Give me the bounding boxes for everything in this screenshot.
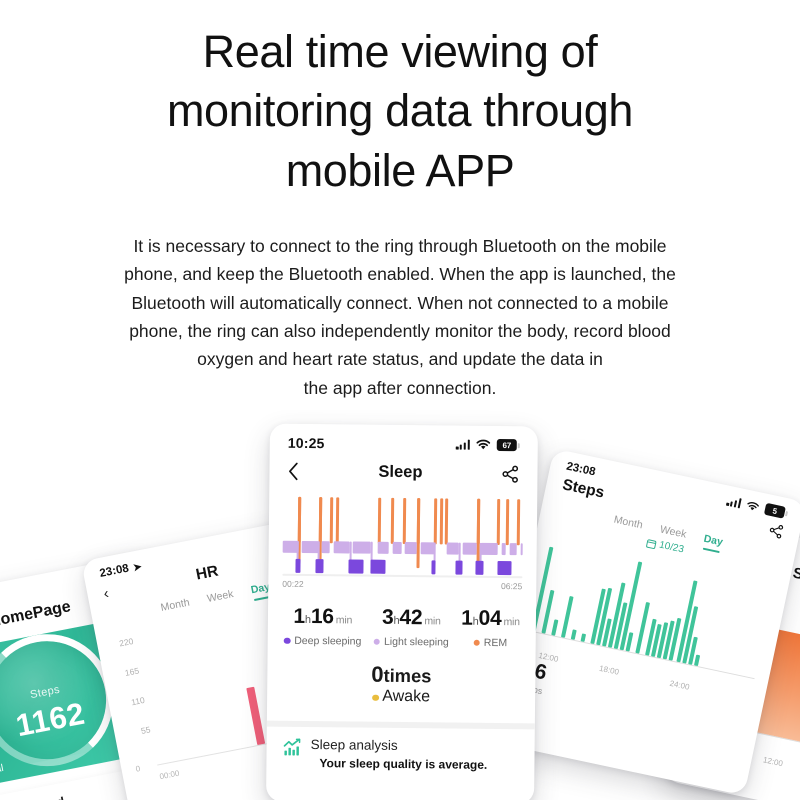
sleep-stat-awake: 0times Awake: [267, 647, 536, 708]
sleep-rem-tick: [445, 498, 448, 544]
calories-chip: 🔥 47 kcal: [0, 763, 5, 783]
steps-tab-day[interactable]: Day: [703, 533, 724, 549]
rem-minutes-unit: min: [503, 616, 519, 628]
phone-screen-sleep: 10:25 67 Sleep: [266, 424, 538, 800]
description-line-6: the app after connection.: [50, 374, 750, 402]
phone-screen-steps: 23:08 5 Steps: [492, 448, 800, 795]
sleep-deep-seg: [431, 560, 435, 574]
page-headline: Real time viewing of monitoring data thr…: [0, 22, 800, 200]
sleep-status-bar: 10:25 67: [270, 424, 538, 457]
leaderboard-label: Leaderboard: [0, 794, 66, 800]
light-color-dot: [373, 638, 380, 645]
light-minutes: 42: [399, 606, 422, 629]
light-hours: 3: [382, 606, 394, 629]
sleep-stat-light: 3h42min Light sleeping: [373, 606, 449, 649]
sleep-analysis-text: Your sleep quality is average.: [319, 756, 487, 772]
sleep-light-seg: [502, 543, 506, 555]
headline-line-1: Real time viewing of: [0, 22, 800, 81]
sleep-light-seg: [393, 542, 402, 554]
sleep-start-time: 00:22: [282, 579, 303, 589]
awake-color-dot: [372, 694, 379, 701]
deep-label: Deep sleeping: [294, 635, 361, 648]
hr-bar: [246, 687, 265, 745]
sleep-light-value: 3h42min: [374, 606, 450, 631]
steps-battery-level: 5: [764, 503, 786, 518]
hr-title: HR: [194, 563, 219, 585]
description-line-4: phone, the ring can also independently m…: [50, 317, 750, 345]
sleep-stat-deep: 1h16min Deep sleeping: [284, 605, 362, 648]
awake-count: 0: [371, 662, 384, 687]
headline-line-3: mobile APP: [0, 141, 800, 200]
chart-up-icon: [282, 738, 301, 757]
calendar-icon: [645, 537, 657, 549]
hr-y-tick-110: 110: [130, 695, 145, 707]
sleep-rem-tick: [517, 499, 520, 545]
hr-y-tick-55: 55: [140, 724, 151, 736]
rem-color-dot: [473, 639, 480, 646]
sleep-deep-seg: [455, 561, 462, 575]
sleep-deep-seg: [315, 559, 323, 573]
hr-tab-month[interactable]: Month: [160, 597, 191, 614]
sleep-light-seg: [463, 543, 477, 555]
hr-y-tick-220: 220: [118, 636, 134, 649]
light-minutes-unit: min: [424, 615, 440, 627]
steps-bar: [581, 633, 587, 642]
sleep-stat-rem: 1h04min REM: [461, 607, 520, 650]
sleep-deep-seg: [370, 560, 385, 574]
sleep-rem-tick: [403, 498, 406, 544]
sleep-light-seg: [322, 541, 330, 553]
sleep-analysis-section[interactable]: Sleep analysis Your sleep quality is ave…: [266, 727, 534, 773]
sleep-rem-connector: [416, 498, 420, 568]
sleep-rem-legend: REM: [461, 637, 520, 650]
sleep-hypnogram-chart: 00:22 06:25: [282, 497, 523, 592]
sleep-rem-tick: [336, 497, 339, 543]
phone-screenshot-collage: 10:25 ➤ HomePage Steps 1162 ⚑ 10000 🔥 47…: [0, 410, 800, 800]
signal-bars-icon: [726, 496, 742, 509]
sleep-axis-line: [282, 574, 522, 578]
deep-hours: 1: [293, 605, 305, 628]
sleep-rem-tick: [378, 498, 381, 544]
sleep-rem-tick: [497, 499, 500, 545]
sleep-rem-tick: [440, 498, 443, 544]
sleep-light-seg: [334, 541, 350, 553]
sleep-light-seg: [353, 541, 371, 553]
sleep-awake-value: 0times: [267, 661, 535, 690]
sleep-rem-value: 1h04min: [461, 607, 520, 632]
hr-x-tick-0: 00:00: [159, 769, 180, 782]
signal-bars-icon: [456, 440, 470, 450]
sleep-light-seg: [421, 542, 435, 554]
sleep-rem-tick: [434, 498, 437, 544]
steps-bar: [551, 619, 558, 635]
description-line-5: oxygen and heart rate status, and update…: [50, 345, 750, 373]
sleep-back-icon[interactable]: [287, 462, 299, 481]
sleep-rem-tick: [506, 499, 509, 545]
sleep-deep-seg: [475, 561, 483, 575]
awake-label: Awake: [382, 688, 430, 705]
location-arrow-icon: ➤: [131, 559, 143, 575]
wifi-icon: [745, 499, 760, 512]
calories-value: 47 kcal: [0, 763, 5, 780]
light-label: Light sleeping: [384, 636, 449, 649]
description-line-1: It is necessary to connect to the ring t…: [50, 232, 750, 260]
sleep-light-seg: [521, 543, 523, 555]
sleep-rem-tick: [330, 497, 333, 543]
wifi-icon: [476, 439, 491, 451]
sleep-end-time: 06:25: [501, 581, 522, 591]
sleep-analysis-title: Sleep analysis: [311, 737, 488, 754]
rem-hours: 1: [461, 607, 473, 630]
sleep-light-seg: [405, 542, 417, 554]
steps-bar: [694, 655, 700, 667]
rem-minutes: 04: [478, 607, 501, 630]
sleep-light-seg: [481, 543, 498, 555]
deep-minutes-unit: min: [336, 614, 352, 626]
sleep-status-time: 10:25: [288, 435, 325, 451]
sleep-deep-value: 1h16min: [284, 605, 362, 630]
share-icon[interactable]: [767, 522, 785, 540]
battery-icon: 67: [497, 439, 520, 451]
rem-label: REM: [484, 637, 507, 649]
steps-bar: [571, 629, 577, 640]
sleep-light-legend: Light sleeping: [373, 636, 448, 649]
sleep-stats-row: 1h16min Deep sleeping 3h42min Light slee…: [268, 589, 537, 650]
headline-line-2: monitoring data through: [0, 81, 800, 140]
sleep-battery-level: 67: [497, 439, 517, 451]
sleep-awake-legend: Awake: [267, 687, 535, 708]
sleep-light-seg: [378, 542, 389, 554]
deep-color-dot: [284, 638, 291, 645]
sleep-deep-legend: Deep sleeping: [284, 635, 362, 648]
sleep-title: Sleep: [378, 463, 422, 482]
sleep-light-seg: [302, 541, 319, 553]
sleep-status-icons: 67: [456, 439, 520, 452]
description-line-3: Bluetooth will automatically connect. Wh…: [50, 289, 750, 317]
hr-tab-week[interactable]: Week: [206, 588, 234, 605]
page-description: It is necessary to connect to the ring t…: [50, 232, 750, 402]
sleep-light-seg: [510, 543, 517, 555]
sleep-light-seg: [447, 542, 459, 554]
sleep-deep-seg: [295, 559, 300, 573]
share-icon[interactable]: [501, 465, 519, 483]
hr-y-tick-165: 165: [124, 665, 140, 678]
description-line-2: phone, and keep the Bluetooth enabled. W…: [50, 260, 750, 288]
sleep-header: Sleep: [269, 454, 537, 490]
spo2-x-tick-1: 12:00: [762, 755, 783, 768]
deep-minutes: 16: [311, 605, 334, 628]
sleep-deep-seg: [348, 559, 363, 573]
hr-back-icon[interactable]: ‹: [102, 584, 110, 602]
awake-unit: times: [383, 665, 431, 687]
sleep-deep-seg: [497, 561, 511, 575]
sleep-rem-tick: [391, 498, 394, 544]
steps-date-value: 10/23: [658, 540, 685, 556]
